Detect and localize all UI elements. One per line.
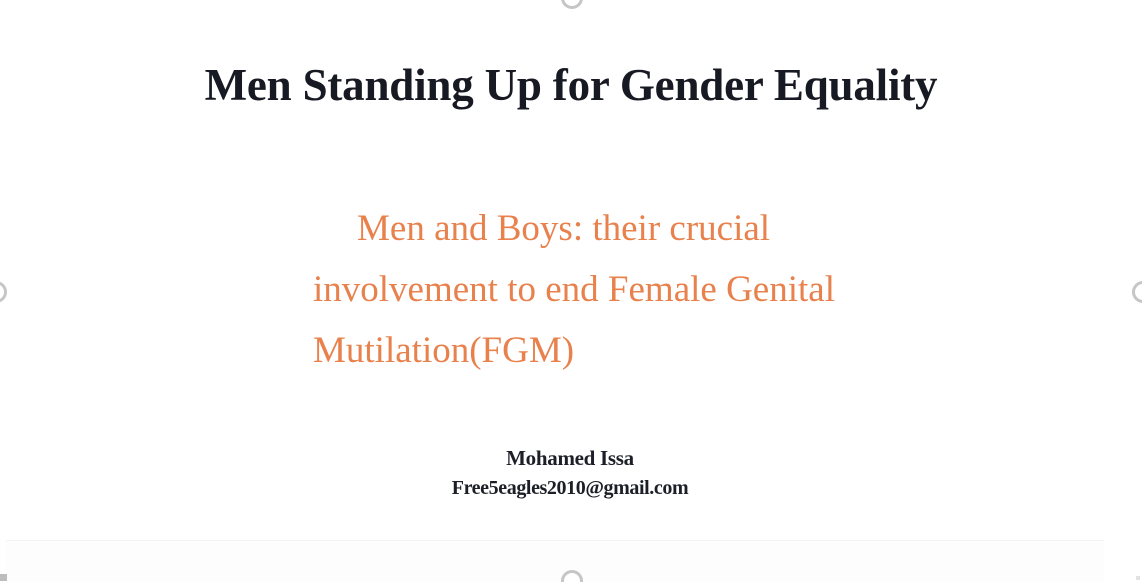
slide-title: Men Standing Up for Gender Equality (120, 62, 1022, 109)
author-textbox[interactable]: Mohamed Issa Free5eagles2010@gmail.com (320, 443, 820, 503)
author-name: Mohamed Issa (320, 443, 820, 473)
title-textbox[interactable]: Men Standing Up for Gender Equality (120, 62, 1022, 109)
slide-canvas[interactable]: Men Standing Up for Gender Equality Men … (0, 0, 1142, 582)
subtitle-textbox[interactable]: Men and Boys: their crucial involvement … (313, 198, 949, 381)
resize-handle-bottom-left-corner[interactable] (0, 574, 7, 581)
slide-page[interactable]: Men Standing Up for Gender Equality Men … (0, 0, 1142, 537)
resize-handle-bottom-right-corner[interactable] (1136, 576, 1140, 580)
author-email: Free5eagles2010@gmail.com (320, 473, 820, 503)
slide-subtitle: Men and Boys: their crucial involvement … (313, 198, 949, 381)
next-slide-preview[interactable] (6, 540, 1104, 582)
